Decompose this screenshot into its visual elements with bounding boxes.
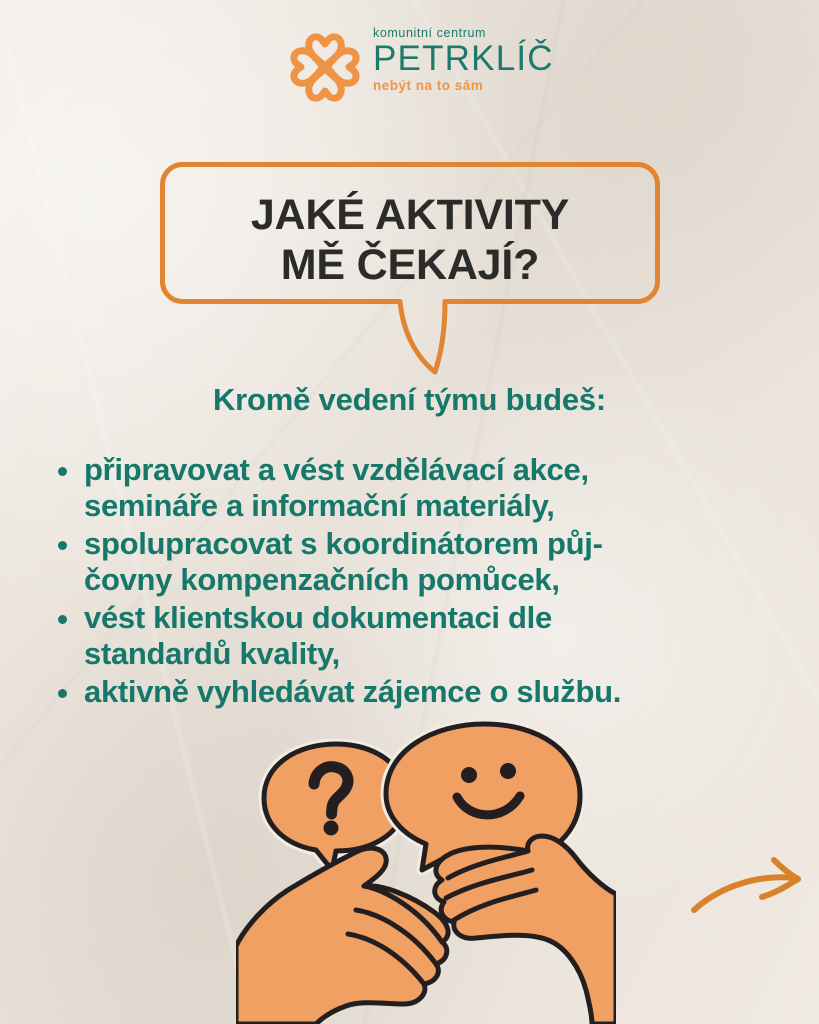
brand-wordmark: komunitní centrum PETRKLÍČ nebýt na to s… (373, 26, 545, 94)
lead-text: Kromě vedení týmu budeš: (0, 382, 819, 418)
brand-logo: komunitní centrum PETRKLÍČ nebýt na to s… (285, 26, 545, 108)
bullet-dot-icon (58, 541, 67, 550)
headline-speech-bubble: JAKÉ AKTIVITY MĚ ČEKAJÍ? (160, 162, 660, 377)
smiley-eye-left-icon (461, 767, 477, 783)
headline-line-1: JAKÉ AKTIVITY (160, 190, 660, 240)
brand-tagline-bottom: nebýt na to sám (373, 78, 545, 94)
hand-left-icon (236, 848, 448, 1024)
poster-canvas: komunitní centrum PETRKLÍČ nebýt na to s… (0, 0, 819, 1024)
list-item-line-2: standardů kvality, (84, 636, 776, 672)
brand-name: PETRKLÍČ (373, 40, 545, 78)
bullet-dot-icon (58, 689, 67, 698)
bullet-dot-icon (58, 467, 67, 476)
list-item-line-2: semináře a informační materiály, (84, 488, 776, 524)
hand-right-icon (435, 836, 616, 1024)
smiley-eye-right-icon (500, 763, 516, 779)
list-item: připravovat a vést vzdělávací akce, semi… (52, 452, 776, 524)
list-item-line-2: čovny kompenzačních pomůcek, (84, 562, 776, 598)
curved-arrow-right-icon (688, 852, 814, 936)
four-heart-clover-icon (285, 28, 365, 106)
list-item: spolupracovat s koordinátorem půj- čovny… (52, 526, 776, 598)
list-item: vést klientskou dokumentaci dle standard… (52, 600, 776, 672)
bullet-dot-icon (58, 615, 67, 624)
two-hands-holding-speech-bubbles-illustration (236, 718, 616, 1024)
headline-line-2: MĚ ČEKAJÍ? (160, 240, 660, 290)
list-item: aktivně vyhledávat zájemce o službu. (52, 674, 776, 710)
list-item-line-1: aktivně vyhledávat zájemce o službu. (84, 674, 776, 710)
list-item-line-1: připravovat a vést vzdělávací akce, (84, 452, 776, 488)
responsibilities-list: připravovat a vést vzdělávací akce, semi… (52, 452, 776, 712)
list-item-line-1: vést klientskou dokumentaci dle (84, 600, 776, 636)
list-item-line-1: spolupracovat s koordinátorem půj- (84, 526, 776, 562)
brand-tagline-top: komunitní centrum (373, 26, 545, 40)
headline-text: JAKÉ AKTIVITY MĚ ČEKAJÍ? (160, 190, 660, 290)
